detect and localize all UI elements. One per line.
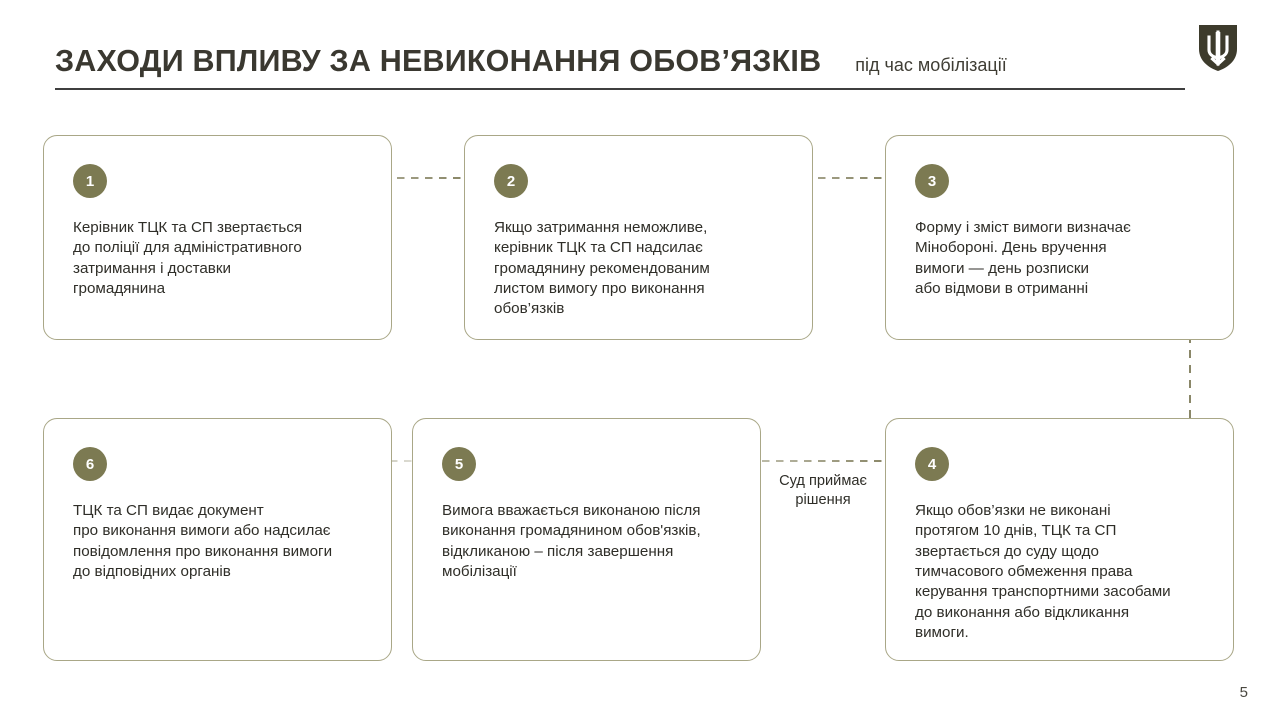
step-card-1[interactable]: 1 Керівник ТЦК та СП звертається до полі… xyxy=(43,135,392,340)
page-number: 5 xyxy=(1240,684,1248,701)
court-decision-label: Суд приймає рішення xyxy=(762,472,884,511)
step-text-3: Форму і зміст вимоги визначає Мінобороні… xyxy=(915,218,1215,299)
step-card-5[interactable]: 5 Вимога вважається виконаною після вико… xyxy=(412,418,761,661)
step-text-1: Керівник ТЦК та СП звертається до поліці… xyxy=(73,218,373,299)
step-text-4: Якщо обов’язки не виконані протягом 10 д… xyxy=(915,501,1215,644)
step-card-4[interactable]: 4 Якщо обов’язки не виконані протягом 10… xyxy=(885,418,1234,661)
step-text-6: ТЦК та СП видає документ про виконання в… xyxy=(73,501,373,582)
step-badge-1: 1 xyxy=(73,164,107,198)
step-badge-3: 3 xyxy=(915,164,949,198)
ukraine-trident-shield-icon xyxy=(1196,22,1240,74)
step-text-2: Якщо затримання неможливе, керівник ТЦК … xyxy=(494,218,794,320)
step-badge-5: 5 xyxy=(442,447,476,481)
step-card-6[interactable]: 6 ТЦК та СП видає документ про виконання… xyxy=(43,418,392,661)
step-card-2[interactable]: 2 Якщо затримання неможливе, керівник ТЦ… xyxy=(464,135,813,340)
step-text-5: Вимога вважається виконаною після викона… xyxy=(442,501,742,582)
step-card-3[interactable]: 3 Форму і зміст вимоги визначає Міноборо… xyxy=(885,135,1234,340)
page-title: ЗАХОДИ ВПЛИВУ ЗА НЕВИКОНАННЯ ОБОВ’ЯЗКІВ xyxy=(55,46,821,77)
step-badge-6: 6 xyxy=(73,447,107,481)
slide: ЗАХОДИ ВПЛИВУ ЗА НЕВИКОНАННЯ ОБОВ’ЯЗКІВ … xyxy=(0,0,1280,719)
header-title-row: ЗАХОДИ ВПЛИВУ ЗА НЕВИКОНАННЯ ОБОВ’ЯЗКІВ … xyxy=(55,24,1240,76)
page-subtitle: під час мобілізації xyxy=(855,56,1006,76)
slide-header: ЗАХОДИ ВПЛИВУ ЗА НЕВИКОНАННЯ ОБОВ’ЯЗКІВ … xyxy=(55,24,1240,94)
header-divider xyxy=(55,88,1185,90)
step-badge-2: 2 xyxy=(494,164,528,198)
step-badge-4: 4 xyxy=(915,447,949,481)
